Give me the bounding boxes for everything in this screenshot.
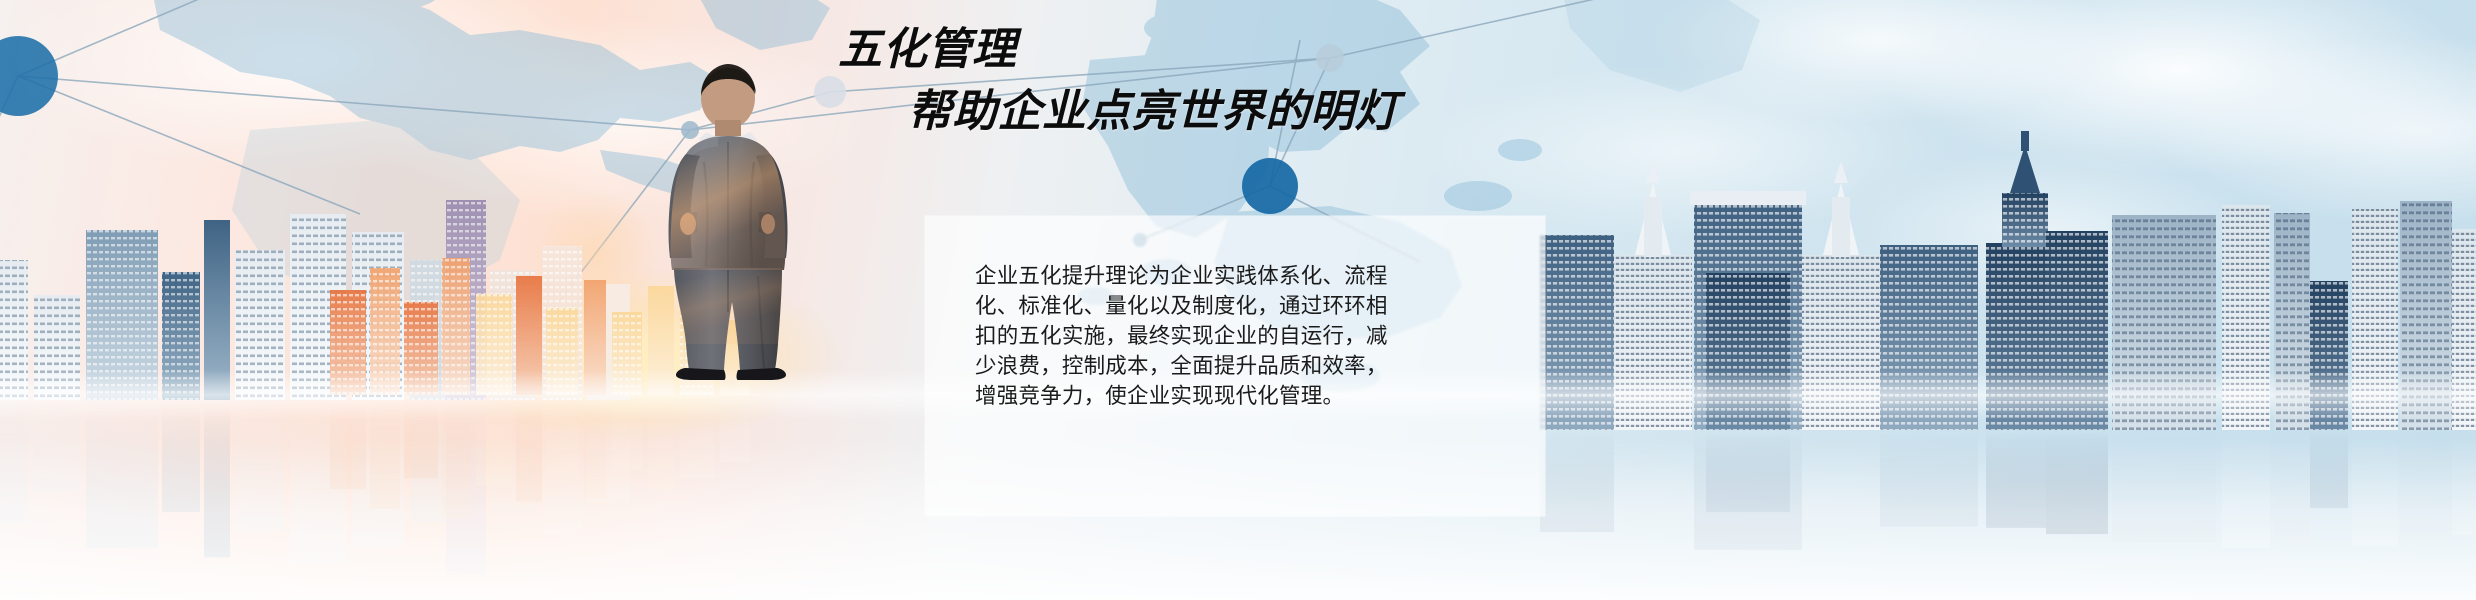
description-line: 少浪费，控制成本，全面提升品质和效率， bbox=[975, 352, 1520, 382]
businessman-reflection bbox=[608, 378, 848, 418]
right-skyline-reflection bbox=[1540, 430, 2476, 600]
hero-banner: 五化管理 帮助企业点亮世界的明灯 企业五化提升理论为企业实践体系化、流程 化、标… bbox=[0, 0, 2476, 600]
headline-line-2: 帮助企业点亮世界的明灯 bbox=[908, 88, 1520, 136]
headline-block: 五化管理 帮助企业点亮世界的明灯 bbox=[760, 26, 1520, 135]
description-line: 扣的五化实施，最终实现企业的自运行，减 bbox=[975, 322, 1520, 352]
right-city-skyline bbox=[1540, 105, 2476, 430]
description-text: 企业五化提升理论为企业实践体系化、流程 化、标准化、量化以及制度化，通过环环相 … bbox=[975, 262, 1520, 412]
description-line: 企业五化提升理论为企业实践体系化、流程 bbox=[975, 262, 1520, 292]
headline-line-1: 五化管理 bbox=[838, 26, 1520, 74]
description-line: 化、标准化、量化以及制度化，通过环环相 bbox=[975, 292, 1520, 322]
description-line: 增强竞争力，使企业实现现代化管理。 bbox=[975, 382, 1520, 412]
